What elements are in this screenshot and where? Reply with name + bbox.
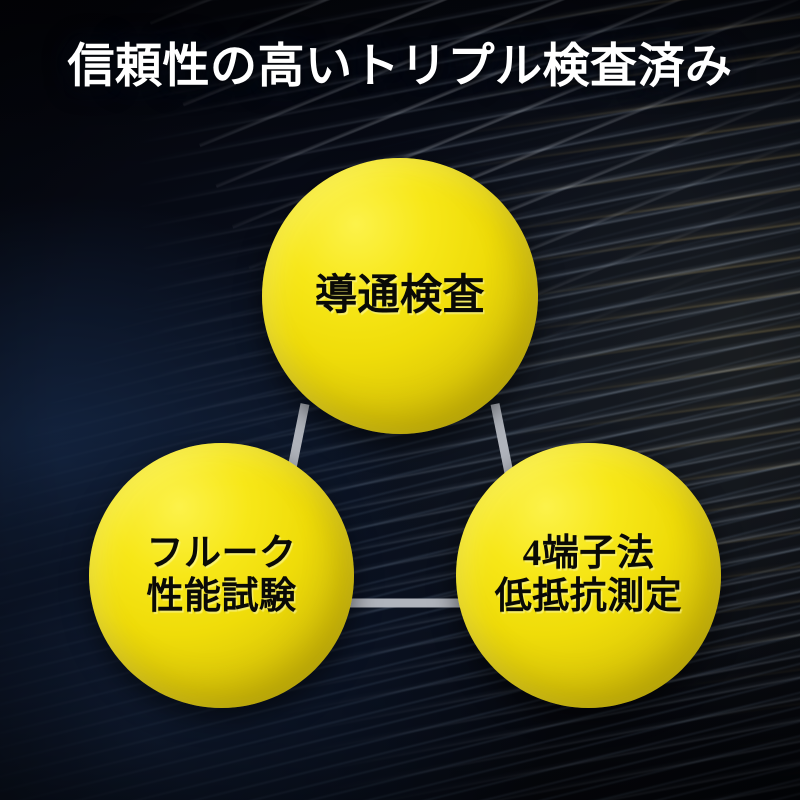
node-four-terminal-low-resistance[interactable]: 4端子法 低抵抗測定 bbox=[456, 443, 721, 708]
node-four-terminal-low-resistance-label: 4端子法 低抵抗測定 bbox=[495, 533, 683, 619]
node-fluke-performance-test-label: フルーク 性能試験 bbox=[147, 533, 297, 619]
poster-canvas: 信頼性の高いトリプル検査済み 導通検査 フルーク 性能試験 4端子法 低抵抗測定 bbox=[0, 0, 800, 800]
node-continuity-test[interactable]: 導通検査 bbox=[262, 158, 538, 434]
node-continuity-test-label: 導通検査 bbox=[315, 272, 485, 321]
page-title: 信頼性の高いトリプル検査済み bbox=[0, 38, 800, 93]
node-fluke-performance-test[interactable]: フルーク 性能試験 bbox=[89, 443, 354, 708]
